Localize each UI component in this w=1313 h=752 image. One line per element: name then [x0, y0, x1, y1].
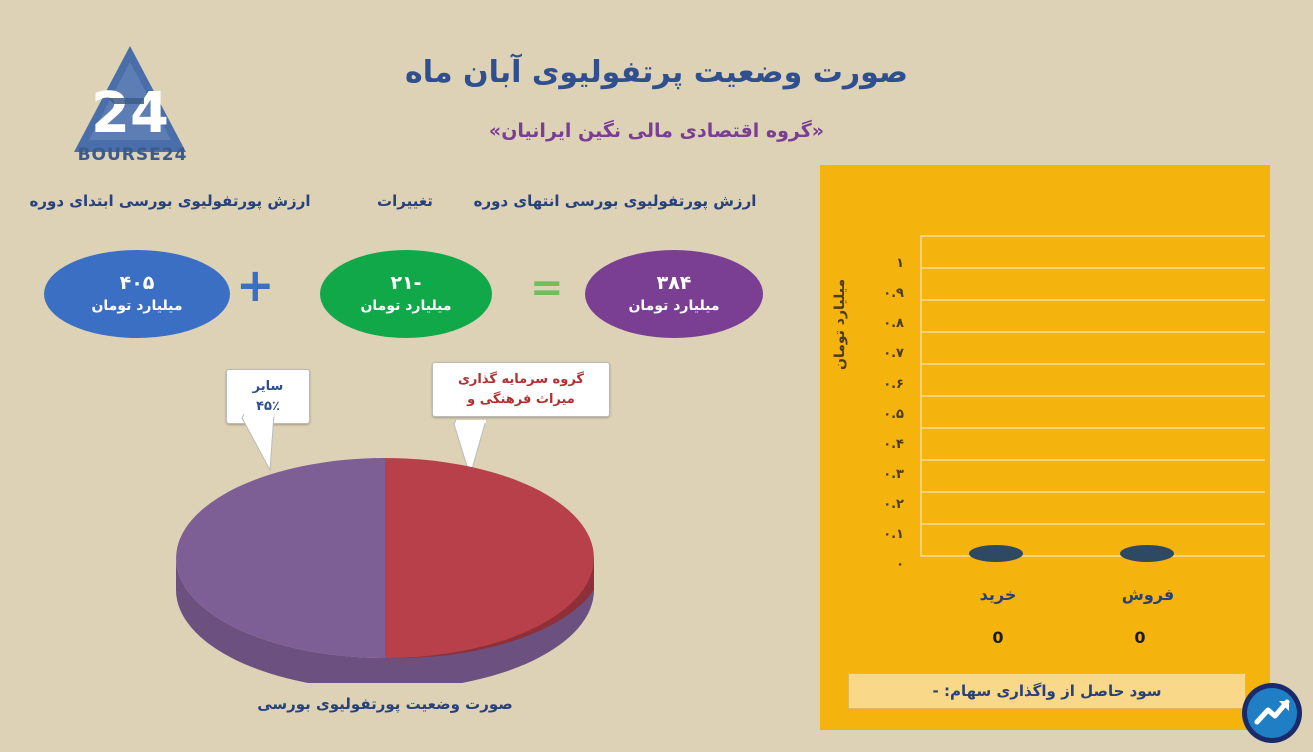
portfolio-pie-chart: [168, 448, 603, 683]
bar-ytick-10: ۱: [862, 256, 904, 271]
bar-gridline-7: [920, 331, 1265, 333]
bar-value-buy: 0: [943, 628, 1053, 647]
pie-callout-group: گروه سرمایه گذاری میراث فرهنگی و: [432, 362, 610, 417]
bar-gridline-4: [920, 427, 1265, 429]
bar-gridline-10: [920, 235, 1265, 237]
bar-value-sell: 0: [1085, 628, 1195, 647]
bar-ytick-6: ۰.۶: [862, 377, 904, 392]
bar-category-buy: خرید: [943, 585, 1053, 604]
bar-ytick-4: ۰.۴: [862, 437, 904, 452]
bar-sell: [1120, 545, 1174, 562]
summary-end-unit: میلیارد تومان: [628, 297, 719, 317]
bar-ytick-0: ۰: [862, 557, 904, 572]
summary-change-unit: میلیارد تومان: [360, 297, 451, 317]
bar-ytick-3: ۰.۳: [862, 467, 904, 482]
summary-bubble-end: ۳۸۴ میلیارد تومان: [585, 250, 763, 338]
bar-gridline-6: [920, 363, 1265, 365]
summary-change-value: -۲۱: [390, 271, 421, 297]
summary-bubble-change: -۲۱ میلیارد تومان: [320, 250, 492, 338]
summary-label-start: ارزش پورتفولیوی بورسی ابتدای دوره: [25, 192, 315, 210]
bar-ytick-5: ۰.۵: [862, 407, 904, 422]
bar-category-sell: فروش: [1093, 585, 1203, 604]
bar-y-axis-line: [920, 235, 922, 557]
pie-chart-caption: صورت وضعیت پورتفولیوی بورسی: [150, 695, 620, 713]
badge-svg: [1241, 682, 1303, 744]
bar-ytick-2: ۰.۲: [862, 497, 904, 512]
bar-gridline-1: [920, 523, 1265, 525]
bar-ytick-9: ۰.۹: [862, 286, 904, 301]
summary-label-end: ارزش پورتفولیوی بورسی انتهای دوره: [470, 192, 760, 210]
summary-start-value: ۴۰۵: [120, 271, 155, 297]
brand-logo-text: BOURSE24: [60, 145, 205, 165]
summary-label-change: تغییرات: [345, 192, 465, 210]
bar-gridline-2: [920, 491, 1265, 493]
page-subtitle: «گروه اقتصادی مالی نگین ایرانیان»: [0, 120, 1313, 142]
page-title: صورت وضعیت پرتفولیوی آبان ماه: [0, 55, 1313, 90]
bar-ytick-8: ۰.۸: [862, 316, 904, 331]
profit-from-share-transfer: سود حاصل از واگذاری سهام: -: [848, 673, 1246, 709]
bar-gridline-5: [920, 395, 1265, 397]
bar-ytick-1: ۰.۱: [862, 527, 904, 542]
bar-buy: [969, 545, 1023, 562]
summary-end-value: ۳۸۴: [657, 271, 692, 297]
equals-operator-icon: =: [530, 268, 564, 308]
pie-callout-other-line1: سایر: [237, 377, 299, 397]
bar-ytick-7: ۰.۷: [862, 346, 904, 361]
plus-operator-icon: +: [236, 262, 275, 308]
pie-callout-group-line1: گروه سرمایه گذاری: [443, 370, 599, 390]
bar-gridline-3: [920, 459, 1265, 461]
summary-start-unit: میلیارد تومان: [91, 297, 182, 317]
pie-svg: [168, 448, 603, 683]
pie-callout-group-line2: میراث فرهنگی و: [443, 390, 599, 410]
summary-bubble-start: ۴۰۵ میلیارد تومان: [44, 250, 230, 338]
bourse24-badge-icon: [1241, 682, 1303, 744]
bar-gridline-9: [920, 267, 1265, 269]
bar-gridline-8: [920, 299, 1265, 301]
bar-chart-y-axis-title: میلیارد تومان: [832, 279, 848, 370]
